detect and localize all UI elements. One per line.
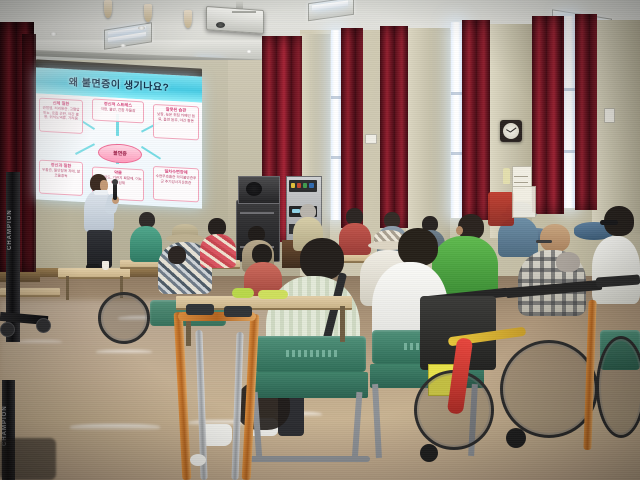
- window-mullion: [563, 150, 575, 153]
- audience-torso: [130, 226, 162, 262]
- walker-foot-cap: [190, 454, 206, 466]
- pendant-lamp: [184, 10, 192, 28]
- projection-screen: 왜 불면증이 생기나요? 신체 질환관절염, 허리통증, 고혈압 빈뇨, 호흡 …: [36, 67, 202, 208]
- walker-grip[interactable]: [224, 306, 252, 317]
- paper-cup: [102, 261, 109, 270]
- window-mullion: [563, 88, 575, 91]
- equipment-stand-label: CHAMPION: [7, 180, 19, 250]
- speaker-cone: [246, 182, 262, 196]
- window-curtain: [380, 26, 408, 228]
- front-audience-head: [398, 228, 438, 266]
- window: [331, 30, 341, 220]
- audience-head: [168, 246, 186, 264]
- stage-curtain-left: [22, 34, 36, 272]
- stand-caster: [36, 318, 51, 333]
- photo-scene: 왜 불면증이 생기나요? 신체 질환관절염, 허리통증, 고혈압 빈뇨, 호흡 …: [0, 0, 640, 480]
- wall-pilaster: [406, 28, 450, 240]
- light-switch-plate[interactable]: [365, 134, 377, 144]
- window-curtain: [341, 28, 363, 228]
- window-mullion: [331, 156, 341, 159]
- rack-led: [309, 183, 314, 188]
- screen-glare: [36, 67, 202, 208]
- chair-foot-rail: [244, 456, 370, 462]
- wheelchair-caster: [506, 428, 526, 448]
- rack-display: [292, 209, 300, 213]
- ceiling-spotlight: [50, 32, 57, 36]
- wall-clock: [500, 120, 522, 142]
- ceiling-spotlight: [120, 44, 126, 47]
- window-curtain: [462, 20, 490, 220]
- audience-head-bald: [540, 224, 570, 252]
- projector-lens: [216, 22, 225, 28]
- screen-surface: 왜 불면증이 생기나요? 신체 질환관절염, 허리통증, 고혈압 빈뇨, 호흡 …: [36, 67, 202, 208]
- wheelchair-wheel: [98, 292, 150, 344]
- table-leg: [340, 306, 345, 342]
- notice-line: [514, 182, 528, 183]
- window-mullion: [451, 152, 462, 155]
- case-latch: [240, 212, 274, 214]
- audience-ear: [456, 226, 463, 235]
- audience-head: [556, 252, 580, 272]
- green-item-on-table: [258, 290, 288, 299]
- stacking-chair-seat[interactable]: [252, 372, 368, 398]
- foreground-chair-shadow: [0, 438, 56, 480]
- walker-grip[interactable]: [186, 304, 214, 315]
- presenter-collar: [94, 190, 108, 195]
- audience-head: [252, 244, 272, 264]
- window-curtain: [575, 14, 597, 210]
- audience-torso-white: [592, 236, 640, 304]
- light-switch-plate[interactable]: [604, 108, 615, 123]
- red-bag: [488, 192, 514, 226]
- window: [451, 22, 462, 218]
- table-leg: [66, 276, 69, 300]
- window: [563, 16, 575, 208]
- wheelchair-caster: [420, 444, 438, 462]
- wall-pilaster: [592, 20, 640, 234]
- floor-light-reflection: [18, 340, 62, 344]
- audience-torso: [339, 223, 371, 255]
- equipment-stand-label: CHAMPION: [2, 386, 14, 446]
- chair-label: [286, 350, 338, 357]
- audience-torso: [200, 234, 236, 268]
- ceiling-spotlight: [246, 50, 252, 53]
- rack-led: [297, 183, 301, 188]
- ceiling-spotlight: [138, 26, 145, 30]
- wall-phone[interactable]: [503, 168, 510, 184]
- wheelchair-wheel: [596, 336, 640, 438]
- eyeglasses: [536, 240, 552, 243]
- pendant-lamp: [104, 0, 112, 18]
- pendant-lamp: [144, 4, 152, 22]
- rack-led: [303, 183, 307, 188]
- floor-light-reflection: [96, 350, 152, 354]
- stand-caster: [0, 322, 15, 337]
- rack-led: [291, 183, 295, 188]
- microphone-head: [112, 179, 118, 185]
- window-curtain: [532, 16, 564, 214]
- notice-line: [514, 176, 528, 177]
- green-item-on-table: [232, 288, 254, 298]
- window-mullion: [451, 92, 462, 95]
- front-audience-head: [300, 238, 344, 280]
- sunglasses: [600, 220, 618, 225]
- projector-vent: [232, 11, 256, 13]
- wall-poster: [512, 186, 536, 218]
- window-mullion: [331, 96, 341, 99]
- floor-light-reflection: [70, 424, 160, 431]
